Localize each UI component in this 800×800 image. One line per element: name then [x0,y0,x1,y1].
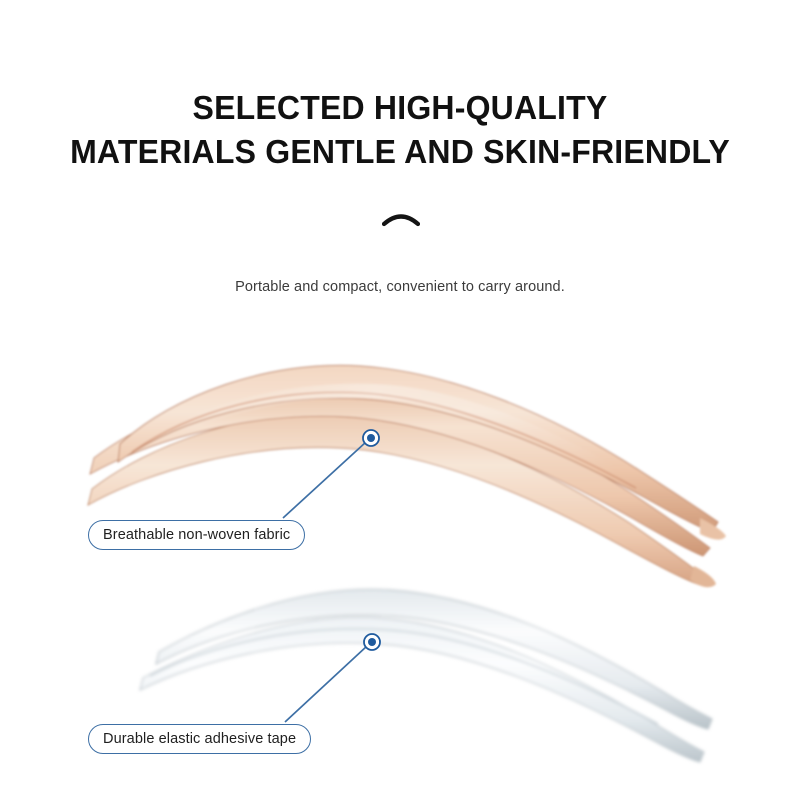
callout-label-breathable-fabric[interactable]: Breathable non-woven fabric [88,520,305,550]
beige-strip-group [88,365,726,587]
page-title: SELECTED HIGH-QUALITY MATERIALS GENTLE A… [12,86,788,174]
callout-label-adhesive-tape[interactable]: Durable elastic adhesive tape [88,724,311,754]
headline-line-1: SELECTED HIGH-QUALITY [193,89,608,126]
ring-dot-marker-2[interactable] [364,634,381,651]
product-feature-image: SELECTED HIGH-QUALITY MATERIALS GENTLE A… [0,0,800,800]
leader-line-2 [285,646,367,722]
headline-line-2: MATERIALS GENTLE AND SKIN-FRIENDLY [12,130,788,174]
arc-swoosh-divider-icon [382,208,420,228]
beige-seam-line [132,392,636,488]
beige-sheen [180,384,618,478]
beige-tip-lower [690,566,716,587]
beige-strip-front [118,365,718,532]
callout-leaders [283,430,381,723]
white-seam-line [150,629,658,724]
leader-line-1 [283,442,366,518]
subtitle-text: Portable and compact, convenient to carr… [0,279,800,295]
white-strip-upper [156,589,712,729]
beige-tip-upper [700,518,726,540]
beige-strip-back [88,413,706,585]
ring-dot-marker-1[interactable] [363,430,380,447]
